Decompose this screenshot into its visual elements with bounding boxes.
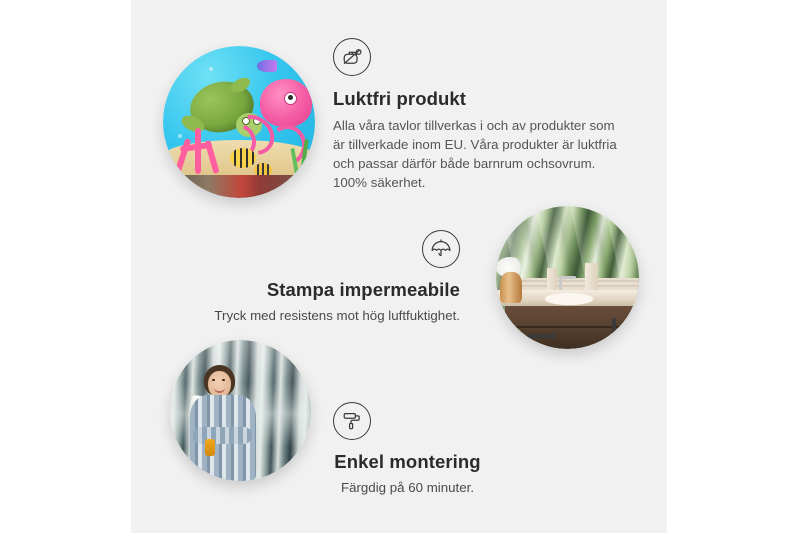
- pink-coral: [177, 128, 223, 174]
- tool-grip: [205, 439, 215, 456]
- feature-description: Färgdig på 60 minuter.: [300, 479, 515, 498]
- striped-fish-icon: [230, 148, 256, 168]
- feature-description: Alla våra tavlor tillverkas i och av pro…: [333, 117, 623, 193]
- backsplash-tiles: [513, 278, 639, 291]
- purple-fish-icon: [257, 60, 277, 72]
- feature-block-odour-free: Luktfri produkt Alla våra tavlor tillver…: [333, 38, 623, 193]
- paint-roller-icon: [333, 402, 371, 440]
- feature-block-waterproof-print: Stampa impermeabile Tryck med resistens …: [188, 230, 460, 326]
- bathroom-photo: [496, 206, 639, 349]
- feature-block-easy-mounting: Enkel montering Färgdig på 60 minuter.: [300, 402, 515, 498]
- woman-photo: [170, 340, 311, 481]
- cabinet-handle: [612, 318, 616, 344]
- drawer-handle: [527, 334, 556, 338]
- bubble-icon: [209, 67, 213, 71]
- feature-description: Tryck med resistens mot hög luftfuktighe…: [188, 307, 460, 326]
- feature-image-woman-with-paint-roller: [170, 340, 311, 481]
- toiletry-bottle: [547, 268, 557, 292]
- copper-vase: [500, 272, 521, 303]
- umbrella-icon: [422, 230, 460, 268]
- feature-icon-wrapper: [188, 230, 460, 268]
- scene-bottom-strip: [163, 175, 315, 198]
- promo-banner: Luktfri produkt Alla våra tavlor tillver…: [0, 0, 800, 533]
- woman-crossed-arms: [193, 427, 252, 444]
- drawer-seam: [507, 326, 639, 328]
- feature-image-bathroom-leaf-wallpaper: [496, 206, 639, 349]
- feature-title: Luktfri produkt: [333, 88, 623, 110]
- feature-title: Enkel montering: [300, 451, 515, 473]
- feature-icon-wrapper: [333, 402, 515, 440]
- feature-title: Stampa impermeabile: [188, 279, 460, 301]
- no-odour-perfume-icon: [333, 38, 371, 76]
- woman-face: [208, 371, 231, 398]
- feature-image-underwater-cartoon-scene: [163, 46, 315, 198]
- underwater-scene-illustration: [163, 46, 315, 198]
- sink-basin: [545, 293, 594, 304]
